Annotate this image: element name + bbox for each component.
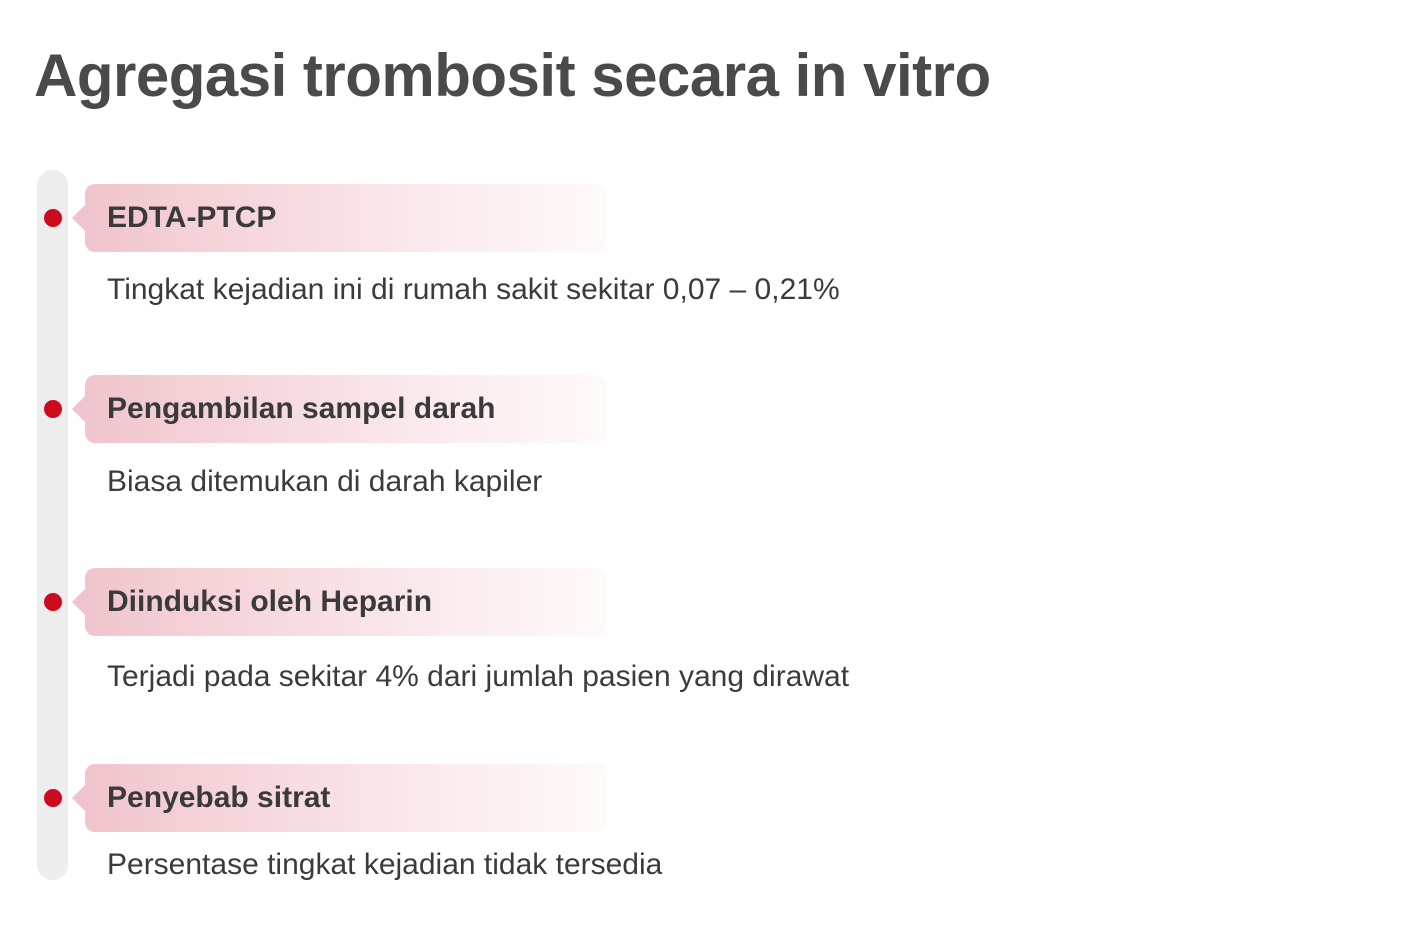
chip-notch-icon bbox=[72, 784, 86, 812]
timeline-item-label: Diinduksi oleh Heparin bbox=[107, 568, 432, 636]
timeline-chip[interactable]: Diinduksi oleh Heparin bbox=[72, 568, 607, 636]
timeline-item-label: Penyebab sitrat bbox=[107, 764, 330, 832]
timeline-item-label: Pengambilan sampel darah bbox=[107, 375, 495, 443]
chip-notch-icon bbox=[72, 204, 86, 232]
chip-notch-icon bbox=[72, 588, 86, 616]
timeline-item-label: EDTA-PTCP bbox=[107, 184, 276, 252]
timeline-chip[interactable]: Pengambilan sampel darah bbox=[72, 375, 607, 443]
timeline-dot-icon bbox=[44, 789, 62, 807]
timeline-dot-icon bbox=[44, 593, 62, 611]
timeline-chip[interactable]: EDTA-PTCP bbox=[72, 184, 607, 252]
timeline-item-body: Terjadi pada sekitar 4% dari jumlah pasi… bbox=[107, 657, 849, 697]
slide-canvas: Agregasi trombosit secara in vitro EDTA-… bbox=[0, 0, 1416, 940]
timeline-item-body: Persentase tingkat kejadian tidak tersed… bbox=[107, 845, 662, 885]
timeline-item-body: Tingkat kejadian ini di rumah sakit seki… bbox=[107, 270, 840, 310]
chip-notch-icon bbox=[72, 395, 86, 423]
timeline-chip[interactable]: Penyebab sitrat bbox=[72, 764, 607, 832]
timeline-list: EDTA-PTCP Tingkat kejadian ini di rumah … bbox=[0, 0, 1416, 940]
timeline-dot-icon bbox=[44, 209, 62, 227]
timeline-item-body: Biasa ditemukan di darah kapiler bbox=[107, 462, 542, 502]
timeline-dot-icon bbox=[44, 400, 62, 418]
